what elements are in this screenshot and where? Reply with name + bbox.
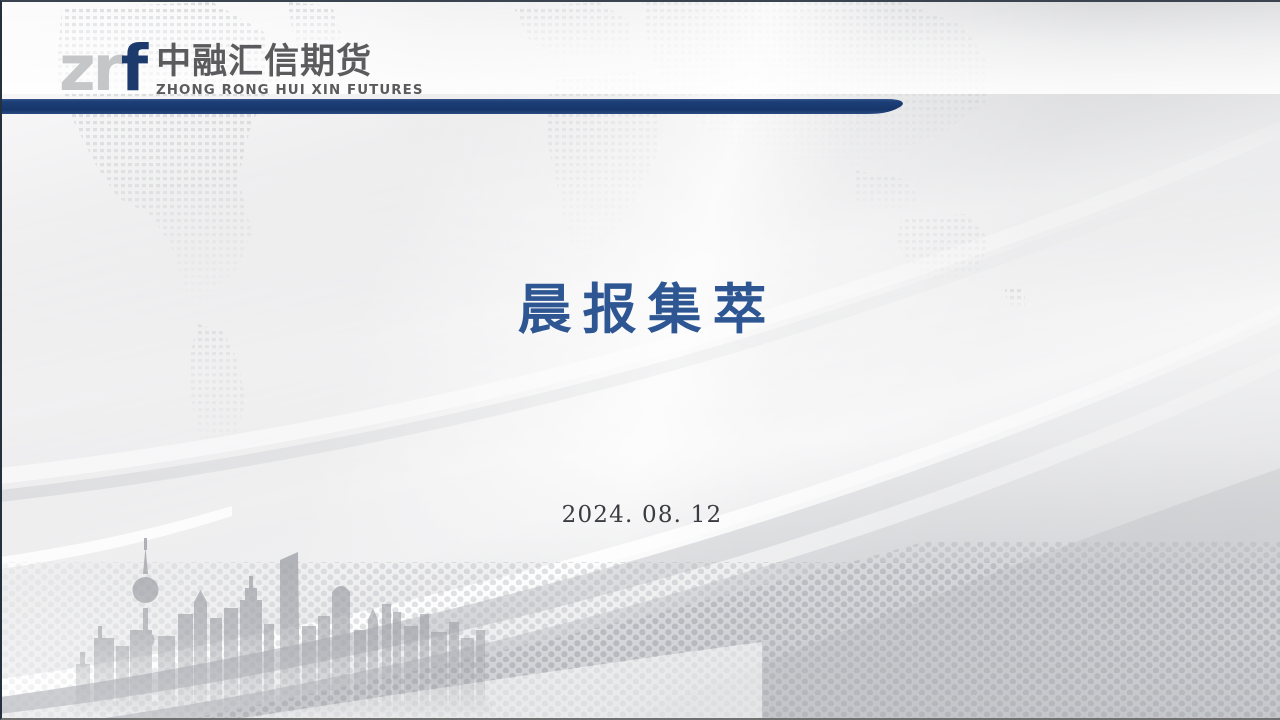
deck-date: 2024. 08. 12 xyxy=(2,502,1280,528)
logo-company-name-cn: 中融汇信期货 xyxy=(156,45,426,80)
logo-monogram-zr: zr xyxy=(59,32,121,105)
title-block: 晨报集萃 xyxy=(2,280,1280,338)
logo-monogram: zrf xyxy=(59,40,145,98)
logo-wordmark: 中融汇信期货 ZHONG RONG HUI XIN FUTURES xyxy=(156,45,426,98)
date-block: 2024. 08. 12 xyxy=(2,502,1280,528)
presentation-slide: zrf 中融汇信期货 ZHONG RONG HUI XIN FUTURES 晨报… xyxy=(0,0,1280,720)
slide-header: zrf 中融汇信期货 ZHONG RONG HUI XIN FUTURES xyxy=(2,2,1280,120)
logo-monogram-f: f xyxy=(121,32,145,105)
company-logo: zrf 中融汇信期货 ZHONG RONG HUI XIN FUTURES xyxy=(59,26,426,100)
page-title: 晨报集萃 xyxy=(2,280,1280,338)
logo-company-name-en: ZHONG RONG HUI XIN FUTURES xyxy=(156,84,424,98)
